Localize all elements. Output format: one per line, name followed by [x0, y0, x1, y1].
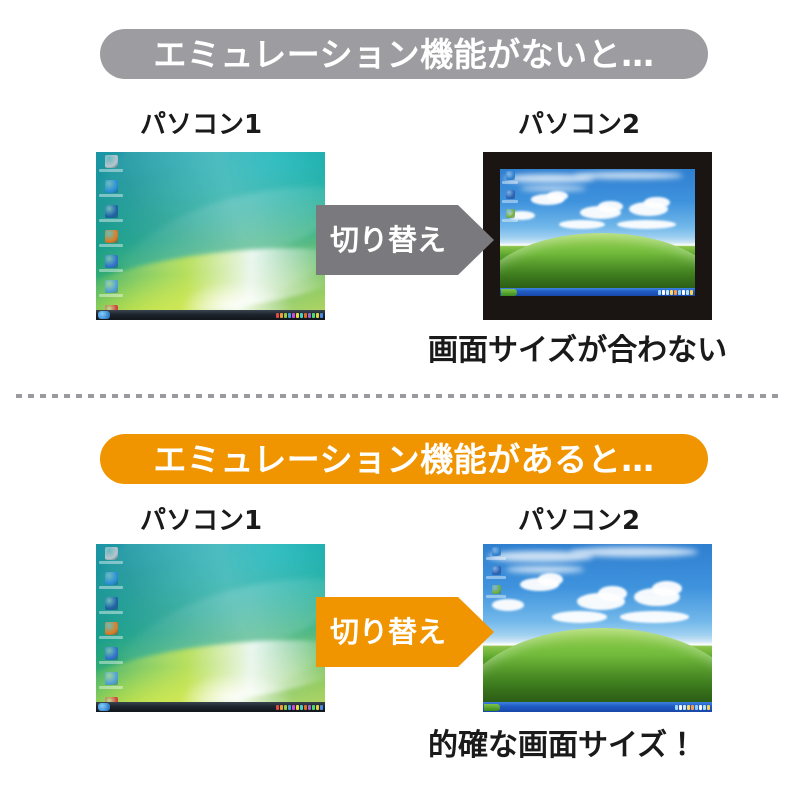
- tray-icon[interactable]: [308, 705, 311, 710]
- internet-browser-icon: [105, 572, 118, 585]
- tray-icon[interactable]: [695, 705, 698, 710]
- tray-icon[interactable]: [288, 313, 291, 318]
- tray-icon[interactable]: [300, 705, 303, 710]
- xp-cloud: [598, 201, 623, 212]
- icon-label: [99, 269, 123, 272]
- recycle-bin-icon: [506, 209, 515, 218]
- vista-desktop-icons[interactable]: [99, 547, 123, 712]
- internet-explorer-icon: [506, 171, 515, 180]
- tray-icon[interactable]: [308, 313, 311, 318]
- tray-icon[interactable]: [296, 705, 299, 710]
- tray-icon[interactable]: [292, 313, 295, 318]
- vista-wallpaper: [96, 544, 325, 712]
- pc1-screen-bottom: [96, 544, 325, 712]
- messenger-icon: [506, 190, 515, 199]
- user-account-icon[interactable]: [99, 622, 123, 639]
- tray-icon[interactable]: [320, 313, 323, 318]
- xp-cloud: [644, 197, 669, 208]
- tray-icon[interactable]: [682, 290, 685, 295]
- internet-explorer-icon[interactable]: [486, 547, 506, 560]
- xp-cloud: [538, 573, 563, 586]
- icon-label: [99, 294, 123, 297]
- xp-wallpaper: [483, 544, 712, 712]
- tray-icon[interactable]: [675, 705, 678, 710]
- internet-browser-icon: [105, 180, 118, 193]
- tray-icon[interactable]: [276, 705, 279, 710]
- icon-label: [486, 576, 506, 579]
- switch-arrow-shaft: 切り替え: [316, 597, 458, 667]
- xp-wallpaper: [500, 169, 695, 296]
- start-button-icon[interactable]: [501, 289, 517, 296]
- result-label-bottom: 的確な画面サイズ！: [428, 731, 697, 761]
- media-player-icon: [105, 597, 118, 610]
- user-account-icon[interactable]: [99, 230, 123, 247]
- xp-cloud: [552, 611, 607, 623]
- xp-taskbar[interactable]: [500, 288, 695, 296]
- tray-icon[interactable]: [280, 705, 283, 710]
- xp-cloud-wisp: [506, 566, 584, 573]
- banner-without-emulation-label: エミュレーション機能がないと…: [153, 38, 654, 71]
- switch-arrow-label-bottom: 切り替え: [330, 618, 446, 647]
- tray-icon[interactable]: [686, 290, 689, 295]
- tray-icon[interactable]: [288, 705, 291, 710]
- recycle-bin-icon[interactable]: [502, 209, 518, 222]
- system-tray[interactable]: [658, 290, 693, 295]
- media-player-icon: [105, 205, 118, 218]
- network-folder-icon[interactable]: [99, 672, 123, 689]
- messenger-icon[interactable]: [99, 255, 123, 272]
- tray-icon[interactable]: [312, 705, 315, 710]
- banner-with-emulation-label: エミュレーション機能があると…: [153, 443, 654, 476]
- user-account-icon: [105, 230, 118, 243]
- vista-taskbar[interactable]: [96, 702, 325, 712]
- pc2-letterboxed-image-top: [500, 169, 695, 296]
- messenger-icon[interactable]: [502, 190, 518, 203]
- tray-icon[interactable]: [276, 313, 279, 318]
- tray-icon[interactable]: [304, 313, 307, 318]
- icon-label: [99, 611, 123, 614]
- arrow-head-icon: [458, 205, 494, 275]
- network-folder-icon: [105, 280, 118, 293]
- banner-without-emulation: エミュレーション機能がないと…: [100, 29, 708, 79]
- xp-cloud: [620, 611, 689, 623]
- messenger-icon: [105, 647, 118, 660]
- switch-arrow-top: 切り替え: [316, 205, 494, 275]
- xp-taskbar[interactable]: [483, 702, 712, 712]
- network-folder-icon[interactable]: [99, 280, 123, 297]
- icon-label: [502, 219, 518, 222]
- internet-explorer-icon[interactable]: [502, 171, 518, 184]
- icon-label: [99, 561, 123, 564]
- messenger-icon[interactable]: [486, 566, 506, 579]
- computer-icon: [105, 547, 118, 560]
- start-button-icon[interactable]: [98, 703, 110, 711]
- pc2-screen-top: [483, 152, 712, 320]
- xp-desktop-icons[interactable]: [486, 547, 506, 604]
- tray-icon[interactable]: [662, 290, 665, 295]
- infographic-canvas: エミュレーション機能がないと… パソコン1 パソコン2 切り替え: [0, 0, 800, 800]
- pc2-label-top: パソコン2: [518, 112, 640, 138]
- tray-icon[interactable]: [674, 290, 677, 295]
- internet-browser-icon[interactable]: [99, 180, 123, 197]
- icon-label: [99, 244, 123, 247]
- vista-desktop-icons[interactable]: [99, 155, 123, 320]
- pc1-label-top: パソコン1: [140, 112, 262, 138]
- vista-wallpaper: [96, 152, 325, 320]
- tray-icon[interactable]: [280, 313, 283, 318]
- tray-icon[interactable]: [292, 705, 295, 710]
- xp-cloud: [559, 220, 606, 229]
- computer-icon: [105, 155, 118, 168]
- tray-icon[interactable]: [316, 313, 319, 318]
- tray-icon[interactable]: [670, 290, 673, 295]
- tray-icon[interactable]: [296, 313, 299, 318]
- tray-icon[interactable]: [300, 313, 303, 318]
- system-tray[interactable]: [675, 705, 710, 710]
- switch-arrow-shaft: 切り替え: [316, 205, 458, 275]
- icon-label: [486, 557, 506, 560]
- icon-label: [99, 636, 123, 639]
- tray-icon[interactable]: [690, 290, 693, 295]
- start-button-icon[interactable]: [98, 311, 110, 319]
- tray-icon[interactable]: [683, 705, 686, 710]
- icon-label: [99, 686, 123, 689]
- tray-icon[interactable]: [316, 705, 319, 710]
- icon-label: [502, 200, 518, 203]
- xp-cloud-wisp: [574, 172, 683, 180]
- switch-arrow-label-top: 切り替え: [330, 226, 446, 255]
- media-player-icon[interactable]: [99, 205, 123, 222]
- section-divider: [16, 394, 784, 398]
- xp-cloud: [547, 191, 568, 201]
- xp-cloud-wisp: [520, 186, 586, 191]
- pc1-label-bottom: パソコン1: [140, 508, 262, 534]
- arrow-head-icon: [458, 597, 494, 667]
- tray-icon[interactable]: [666, 290, 669, 295]
- media-player-icon[interactable]: [99, 597, 123, 614]
- pc2-screen-bottom: [483, 544, 712, 712]
- tray-icon[interactable]: [304, 705, 307, 710]
- tray-icon[interactable]: [691, 705, 694, 710]
- network-folder-icon: [105, 672, 118, 685]
- tray-icon[interactable]: [658, 290, 661, 295]
- result-label-top: 画面サイズが合わない: [428, 336, 727, 366]
- start-button-icon[interactable]: [484, 704, 500, 711]
- tray-icon[interactable]: [312, 313, 315, 318]
- xp-desktop-icons[interactable]: [502, 171, 518, 228]
- messenger-icon[interactable]: [99, 647, 123, 664]
- tray-icon[interactable]: [699, 705, 702, 710]
- tray-icon[interactable]: [284, 705, 287, 710]
- system-tray[interactable]: [276, 705, 323, 710]
- icon-label: [99, 169, 123, 172]
- computer-icon[interactable]: [99, 155, 123, 172]
- tray-icon[interactable]: [678, 290, 681, 295]
- messenger-icon: [492, 566, 501, 575]
- messenger-icon: [105, 255, 118, 268]
- icon-label: [99, 219, 123, 222]
- computer-icon[interactable]: [99, 547, 123, 564]
- icon-label: [502, 181, 518, 184]
- tray-icon[interactable]: [707, 705, 710, 710]
- internet-browser-icon[interactable]: [99, 572, 123, 589]
- tray-icon[interactable]: [703, 705, 706, 710]
- system-tray[interactable]: [276, 313, 323, 318]
- pc2-label-bottom: パソコン2: [518, 508, 640, 534]
- tray-icon[interactable]: [284, 313, 287, 318]
- icon-label: [99, 194, 123, 197]
- tray-icon[interactable]: [687, 705, 690, 710]
- user-account-icon: [105, 622, 118, 635]
- vista-taskbar[interactable]: [96, 310, 325, 320]
- xp-cloud: [617, 220, 676, 229]
- tray-icon[interactable]: [679, 705, 682, 710]
- pc1-screen-top: [96, 152, 325, 320]
- banner-with-emulation: エミュレーション機能があると…: [100, 434, 708, 484]
- recycle-bin-icon: [492, 585, 501, 594]
- icon-label: [99, 586, 123, 589]
- internet-explorer-icon: [492, 547, 501, 556]
- tray-icon[interactable]: [320, 705, 323, 710]
- switch-arrow-bottom: 切り替え: [316, 597, 494, 667]
- icon-label: [99, 661, 123, 664]
